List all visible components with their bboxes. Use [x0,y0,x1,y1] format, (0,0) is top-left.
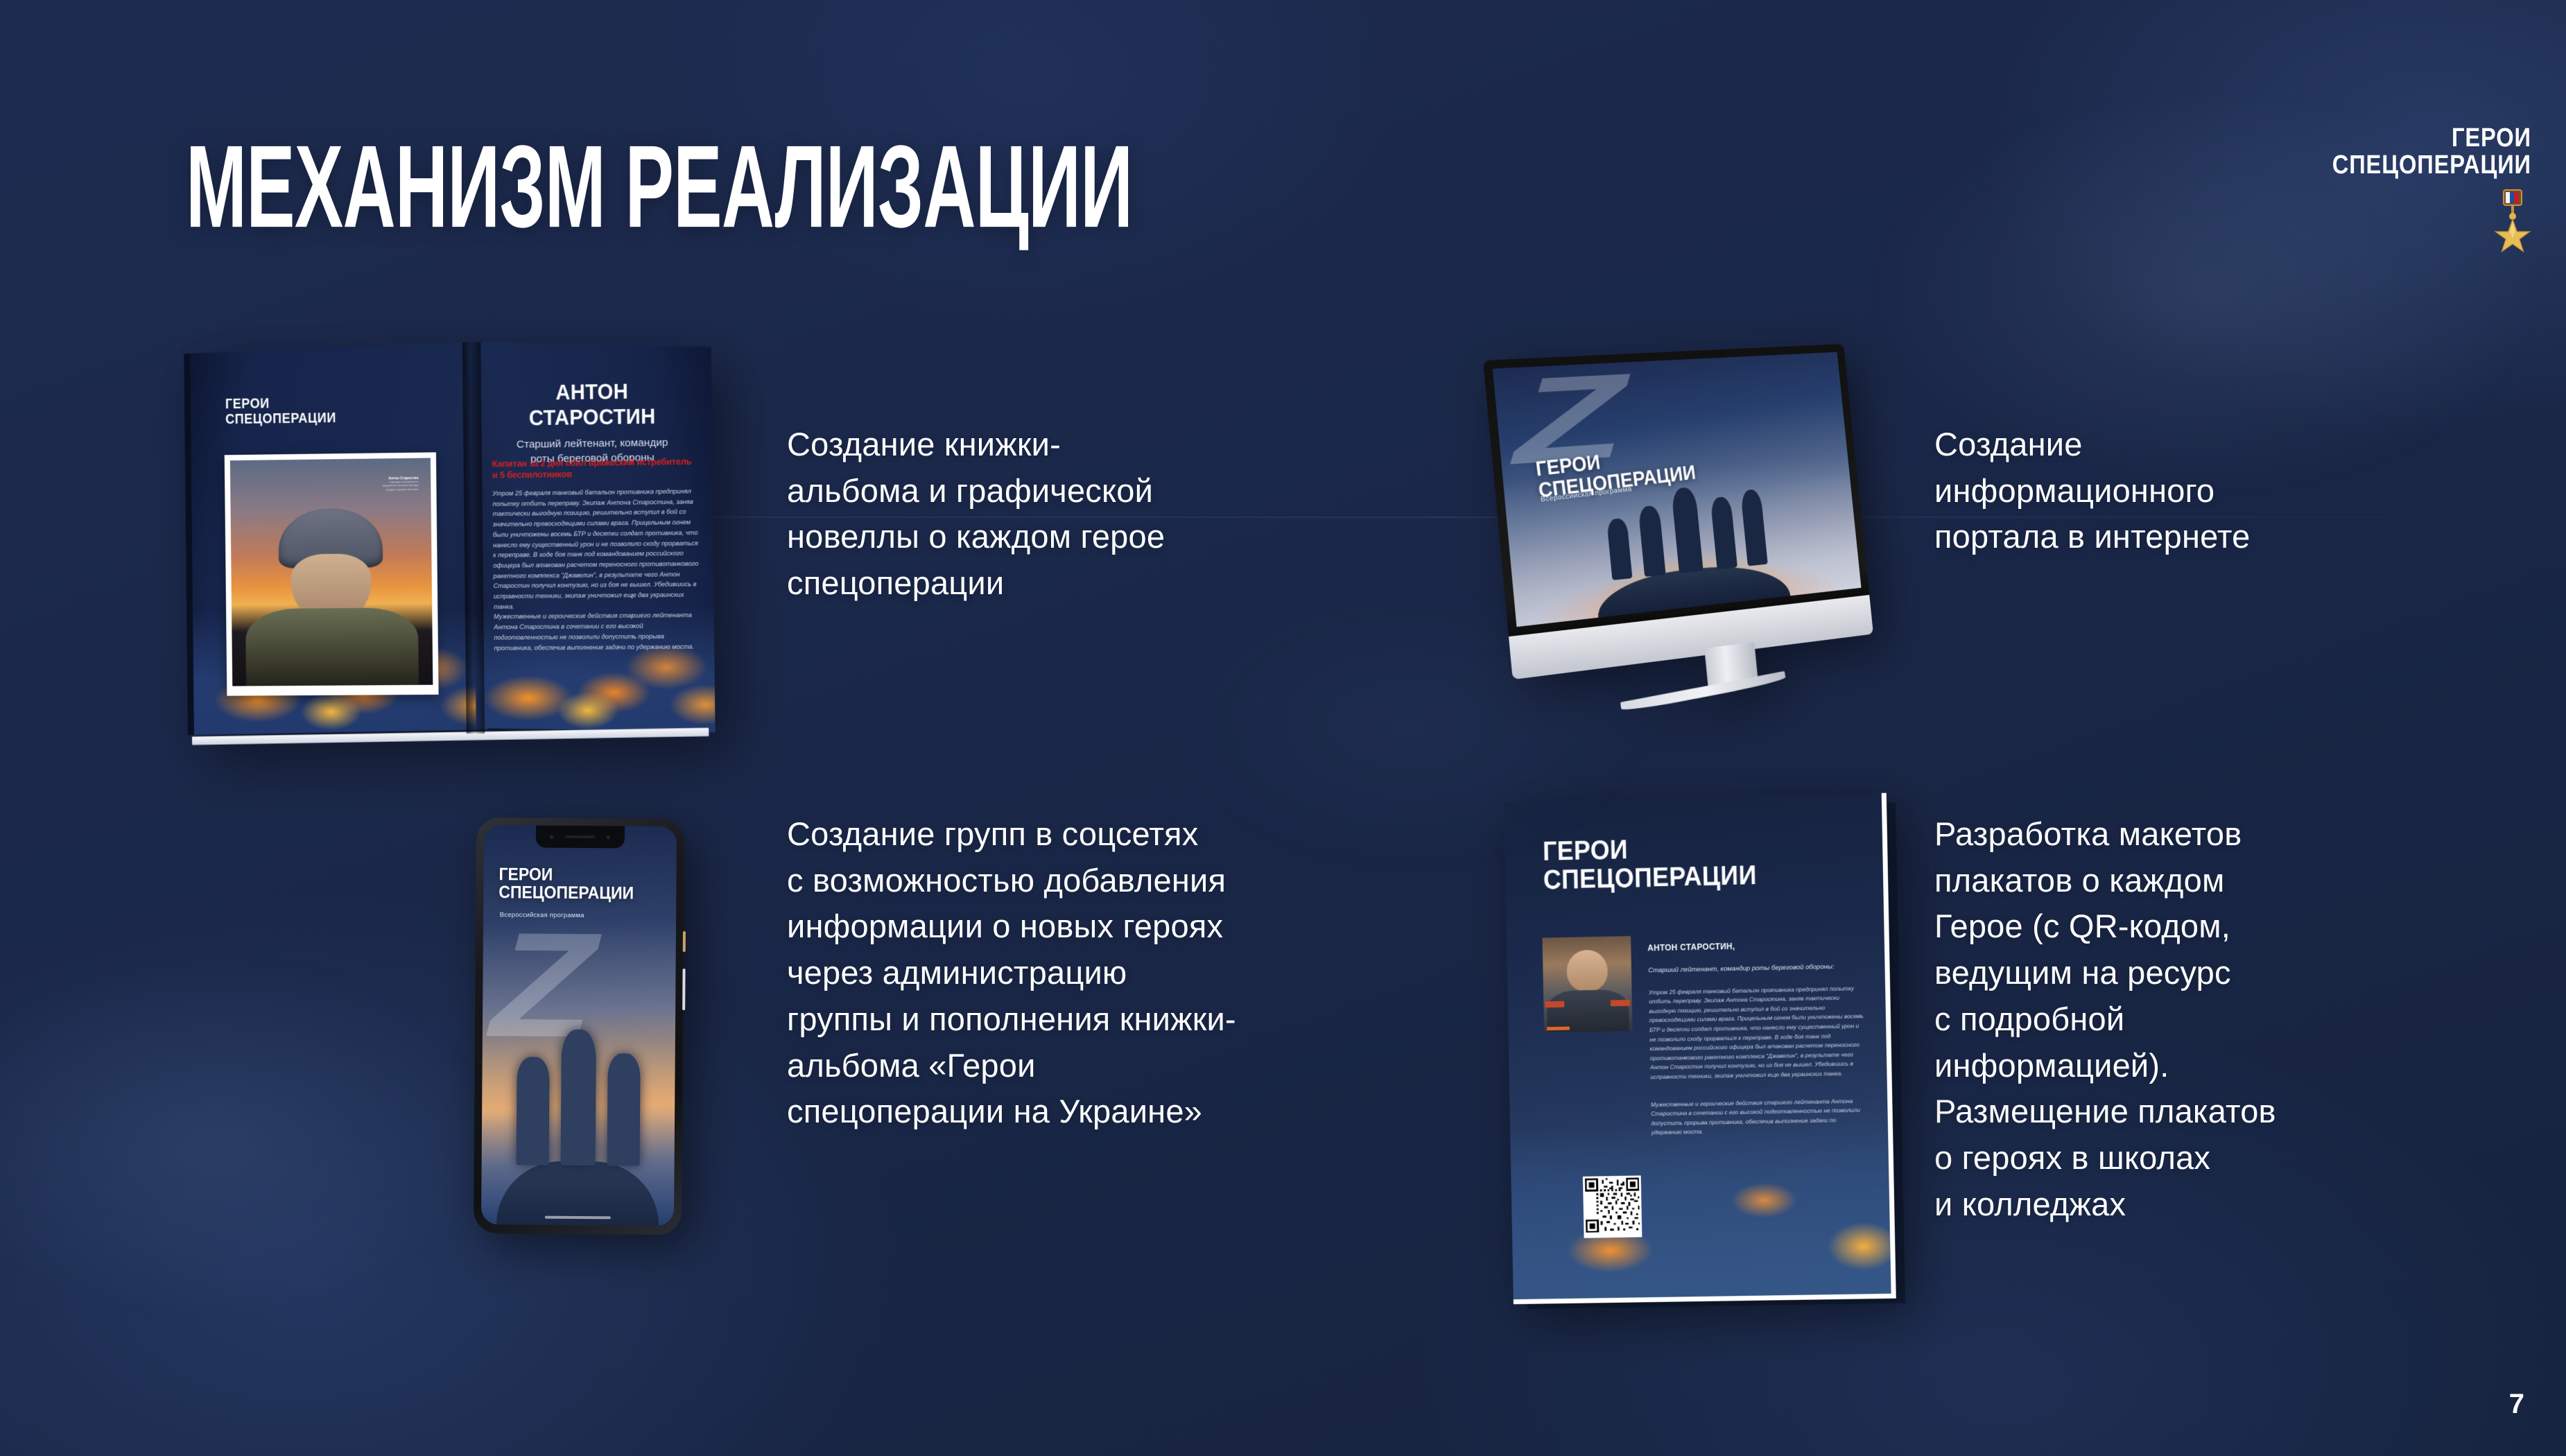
book-hero-name: АНТОН СТАРОСТИН [499,378,684,431]
book-brand-logo: ГЕРОИ СПЕЦОПЕРАЦИИ [225,395,336,428]
book-brand-line2: СПЕЦОПЕРАЦИИ [225,410,336,427]
app-title-line1: ГЕРОИ [499,865,553,885]
uniform-shape [245,608,418,686]
illustration-caption-role: командир танковой роты гвардейской танко… [346,480,418,493]
poster-brand-line1: ГЕРОИ [1542,835,1628,867]
ribbon-bar [1547,1026,1570,1030]
item-text-portal: Создание информационного портала в интер… [1934,422,2545,560]
poster-paragraph-2: Мужественные и героические действия стар… [1651,1096,1867,1138]
monitor-bezel: Z ГЕРОИ СПЕЦОПЕРАЦИИ Всероссийская прогр… [1483,344,1869,636]
page-number: 7 [2509,1389,2524,1420]
book-paragraph-1: Утром 25 февраля танковый батальон проти… [492,486,700,612]
page-title: МЕХАНИЗМ РЕАЛИЗАЦИИ [186,128,1132,245]
book-left-page: ГЕРОИ СПЕЦОПЕРАЦИИ Антон Старостин коман… [184,342,487,735]
epaulette-right [1611,1000,1630,1007]
portrait-head [1566,950,1608,992]
phone-power-button[interactable] [682,969,685,1010]
smartphone-mockup: ГЕРОИ СПЕЦОПЕРАЦИИ Всероссийская програм… [474,817,684,1235]
poster-brand-logo: ГЕРОИ СПЕЦОПЕРАЦИИ [1542,833,1756,894]
app-title-line2: СПЕЦОПЕРАЦИИ [499,883,634,903]
poster-hero-role: Старший лейтенант, командир роты берегов… [1648,962,1864,974]
app-title: ГЕРОИ СПЕЦОПЕРАЦИИ [499,865,634,902]
poster-fire-glow [1510,1123,1891,1299]
soldier-silhouette [607,1054,640,1166]
phone-volume-button[interactable] [683,931,686,952]
gold-star-medal-icon [2300,189,2560,255]
phone-notch [536,826,625,849]
book-hero-illustration: Антон Старостин командир танковой роты г… [225,452,438,696]
front-camera-icon [550,835,553,838]
presentation-slide: МЕХАНИЗМ РЕАЛИЗАЦИИ ГЕРОИ СПЕЦОПЕРАЦИИ С… [0,0,2566,1456]
book-right-page: АНТОН СТАРОСТИН Старший лейтенант, коман… [472,338,716,734]
book-paragraph-2: Мужественные и героические действия стар… [494,610,700,653]
book-hero-header: АНТОН СТАРОСТИН Старший лейтенант, коман… [492,378,693,467]
epaulette-left [1545,1000,1565,1007]
soldier-silhouette [561,1030,596,1165]
phone-screen: ГЕРОИ СПЕЦОПЕРАЦИИ Всероссийская програм… [481,825,677,1226]
poster-paragraph-1: Утром 25 февраля танковый батальон проти… [1649,984,1866,1082]
book-album-mockup: ГЕРОИ СПЕЦОПЕРАЦИИ Антон Старостин коман… [184,338,716,735]
poster-page: ГЕРОИ СПЕЦОПЕРАЦИИ АНТОН СТАРОСТИН, Стар… [1504,793,1896,1304]
poster-hero-name: АНТОН СТАРОСТИН, [1648,942,1735,953]
book-brand-line1: ГЕРОИ [225,396,270,412]
item-text-posters: Разработка макетов плакатов о каждом Гер… [1934,811,2558,1228]
phone-home-indicator [545,1216,611,1220]
illustration-caption: Антон Старостин командир танковой роты г… [346,476,418,493]
monitor-stand-foot [1620,671,1786,713]
earpiece-speaker-icon [565,835,595,838]
soldier-silhouette [517,1057,550,1165]
brand-logo-line2: СПЕЦОПЕРАЦИИ [2332,152,2531,179]
hero-portrait-photo [1542,936,1632,1032]
monitor-screen: Z ГЕРОИ СПЕЦОПЕРАЦИИ Всероссийская прогр… [1493,352,1862,627]
item-text-social: Создание групп в соцсетях с возможностью… [787,811,1432,1135]
sensor-icon [607,835,610,839]
book-red-headline: Капитан за 2 дня сбил вражеский истребит… [492,457,698,481]
poster-mockup: ГЕРОИ СПЕЦОПЕРАЦИИ АНТОН СТАРОСТИН, Стар… [1504,793,1891,1299]
brand-logo-line1: ГЕРОИ [2332,125,2531,152]
poster-brand-line2: СПЕЦОПЕРАЦИИ [1543,860,1757,895]
brand-logo: ГЕРОИ СПЕЦОПЕРАЦИИ [2300,125,2531,255]
app-subtitle: Всероссийская программа [500,911,584,919]
qr-code[interactable] [1582,1175,1642,1238]
item-text-book: Создание книжки- альбома и графической н… [787,422,1466,607]
desktop-monitor-mockup: Z ГЕРОИ СПЕЦОПЕРАЦИИ Всероссийская прогр… [1483,344,1877,716]
